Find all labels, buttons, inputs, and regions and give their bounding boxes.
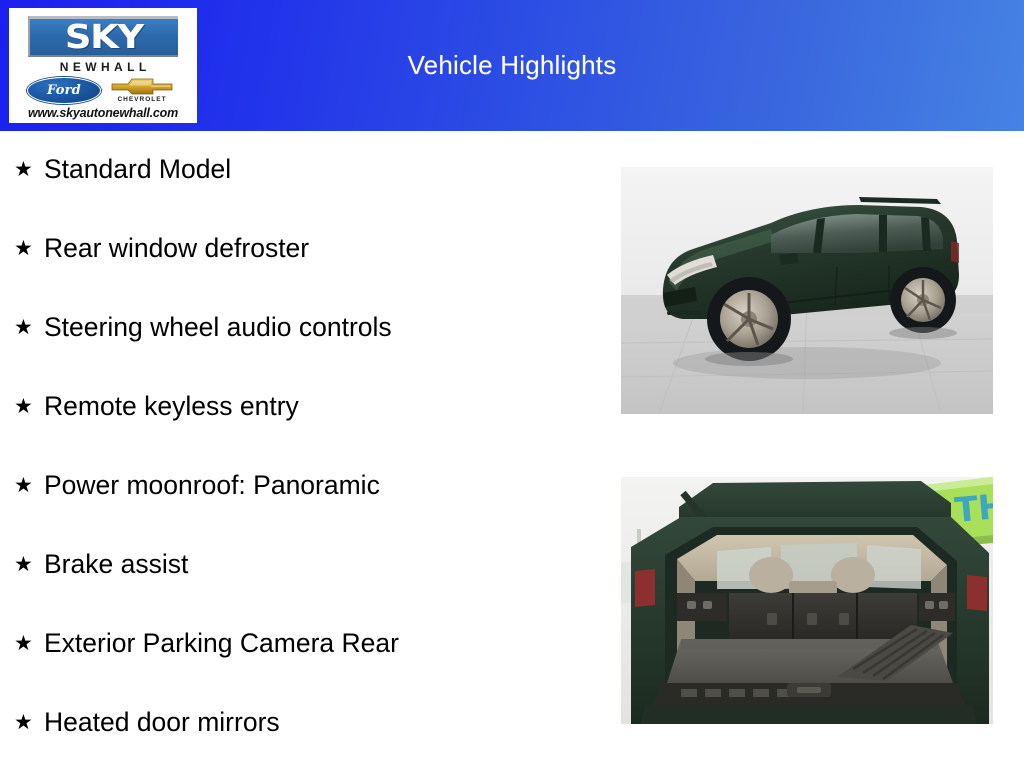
star-bullet-icon: ★ <box>14 228 44 268</box>
cargo-photo-graphic: F TH <box>621 477 993 724</box>
feature-label: Exterior Parking Camera Rear <box>44 623 399 663</box>
dealer-logo[interactable]: SKY NEWHALL Ford <box>9 8 197 123</box>
feature-label: Heated door mirrors <box>44 702 280 742</box>
star-bullet-icon: ★ <box>14 465 44 505</box>
feature-label: Steering wheel audio controls <box>44 307 392 347</box>
dealer-location-text: NEWHALL <box>55 61 150 73</box>
star-bullet-icon: ★ <box>14 544 44 584</box>
vehicle-features-list: ★ Standard Model ★ Rear window defroster… <box>0 131 600 768</box>
sky-brand-text: SKY <box>65 20 143 53</box>
sky-brand-band: SKY <box>28 16 178 57</box>
star-bullet-icon: ★ <box>14 623 44 663</box>
feature-label: Brake assist <box>44 544 188 584</box>
vehicle-exterior-photo[interactable] <box>621 167 993 414</box>
list-item: ★ Steering wheel audio controls <box>0 307 600 386</box>
star-bullet-icon: ★ <box>14 149 44 189</box>
ford-wordmark: Ford <box>47 84 81 97</box>
list-item: ★ Remote keyless entry <box>0 386 600 465</box>
list-item: ★ Exterior Parking Camera Rear <box>0 623 600 702</box>
list-item: ★ Rear window defroster <box>0 228 600 307</box>
vehicle-highlights-slide: Vehicle Highlights SKY NEWHALL Ford <box>0 0 1024 768</box>
vehicle-cargo-photo[interactable]: F TH <box>621 477 993 724</box>
chevrolet-bowtie-icon <box>111 77 173 96</box>
feature-label: Standard Model <box>44 149 231 189</box>
feature-label: Power moonroof: Panoramic <box>44 465 380 505</box>
list-item: ★ Power moonroof: Panoramic <box>0 465 600 544</box>
chevrolet-badge: CHEVROLET <box>105 77 179 104</box>
list-item: ★ Heated door mirrors <box>0 702 600 781</box>
list-item: ★ Brake assist <box>0 544 600 623</box>
list-item: ★ Standard Model <box>0 149 600 228</box>
dealer-website-text: www.skyautonewhall.com <box>28 107 178 120</box>
feature-label: Remote keyless entry <box>44 386 299 426</box>
franchise-badges: Ford CHEVROLET <box>23 77 183 104</box>
chevrolet-wordmark: CHEVROLET <box>117 97 166 104</box>
feature-label: Rear window defroster <box>44 228 309 268</box>
exterior-photo-graphic <box>621 167 993 414</box>
star-bullet-icon: ★ <box>14 386 44 426</box>
star-bullet-icon: ★ <box>14 702 44 742</box>
star-bullet-icon: ★ <box>14 307 44 347</box>
ford-oval-icon: Ford <box>27 77 101 104</box>
